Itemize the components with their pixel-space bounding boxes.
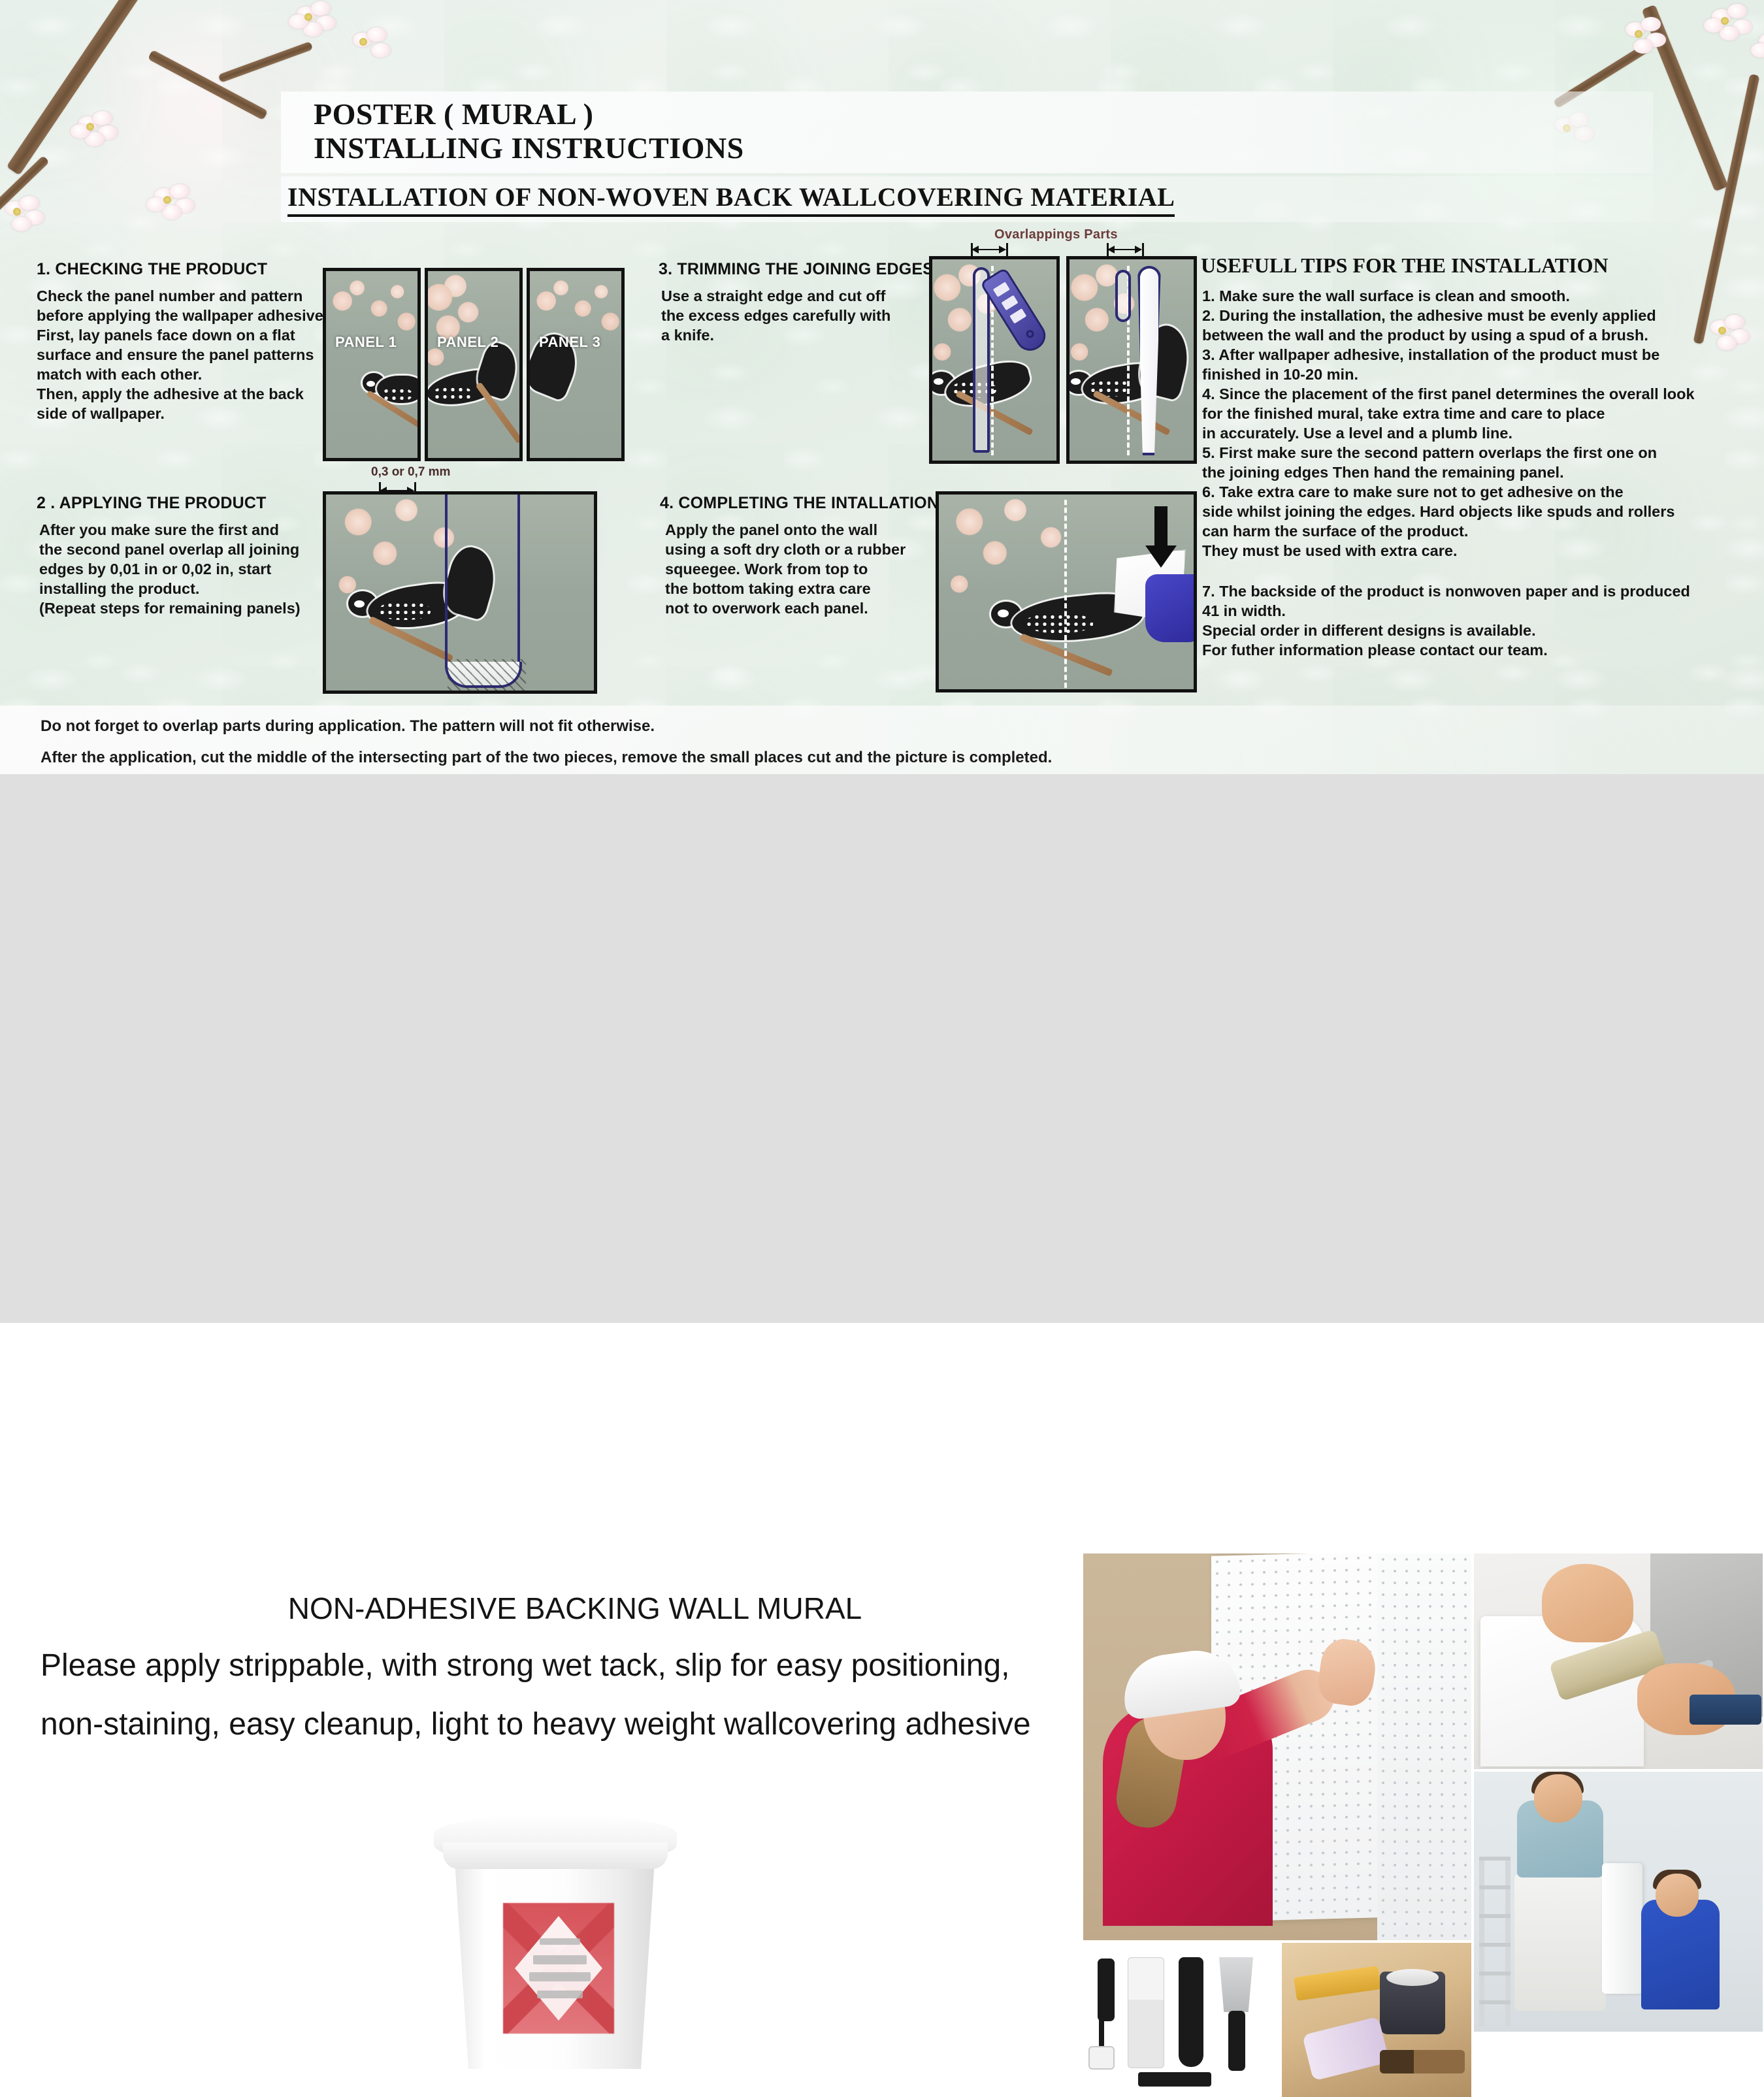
seam-dash-line <box>1064 500 1067 688</box>
tip-1: 1. Make sure the wall surface is clean a… <box>1202 286 1744 306</box>
photo-woman-applying-lining <box>1083 1553 1471 1940</box>
overlap-tick-2 <box>1006 243 1008 256</box>
poster-title-line-1: POSTER ( MURAL ) <box>314 97 593 131</box>
overlap-tick-4 <box>1142 243 1144 256</box>
tip-7: 7. The backside of the product is nonwov… <box>1202 581 1744 660</box>
photo-roller-pasting <box>1474 1553 1763 1769</box>
footer-note-1: Do not forget to overlap parts during ap… <box>41 717 655 736</box>
step-2-heading: 2 . APPLYING THE PRODUCT <box>37 494 267 513</box>
step-4-diagram <box>936 491 1197 692</box>
marketing-panel: NON-ADHESIVE BACKING WALL MURAL Please a… <box>0 774 1764 1323</box>
measure-label: 0,3 or 0,7 mm <box>371 465 450 480</box>
panel-label-2: PANEL 2 <box>437 334 498 351</box>
overlap-outline <box>445 491 520 687</box>
step-3-diagram-edge <box>1066 256 1197 464</box>
overlap-arrow-right-1 <box>999 246 1006 253</box>
footer-note-2: After the application, cut the middle of… <box>41 749 1052 767</box>
tip-2: 2. During the installation, the adhesive… <box>1202 306 1744 345</box>
step-1-body: Check the panel number and pattern befor… <box>37 286 344 423</box>
marketing-title: NON-ADHESIVE BACKING WALL MURAL <box>248 1591 902 1626</box>
step-1-heading: 1. CHECKING THE PRODUCT <box>37 260 267 279</box>
plumb-guide-b <box>1115 270 1131 322</box>
down-arrow-head-icon <box>1145 545 1177 568</box>
step-3-diagram-knife <box>929 256 1060 464</box>
overlap-arrow-right-2 <box>1135 246 1142 253</box>
marketing-body: Please apply strippable, with strong wet… <box>41 1636 1060 1754</box>
tip-3: 3. After wallpaper adhesive, installatio… <box>1202 345 1744 384</box>
tips-heading: USEFULL TIPS FOR THE INSTALLATION <box>1201 253 1609 278</box>
tip-5: 5. First make sure the second pattern ov… <box>1202 443 1744 482</box>
photo-brushes-and-roll <box>1282 1943 1471 2097</box>
step-4-heading: 4. COMPLETING THE INTALLATION <box>660 494 939 513</box>
panel-label-3: PANEL 3 <box>539 334 600 351</box>
overlap-arrow-left-2 <box>1107 246 1115 253</box>
glove-icon <box>1145 574 1197 642</box>
photo-collage <box>1083 1553 1763 2097</box>
adhesive-bucket-image <box>431 1793 679 2074</box>
step-2-diagram <box>323 491 597 694</box>
instruction-poster: POSTER ( MURAL ) INSTALLING INSTRUCTIONS… <box>0 0 1764 777</box>
step-1-panel-1: PANEL 1 <box>323 268 421 461</box>
down-arrow-icon <box>1154 506 1168 547</box>
photo-tool-set <box>1083 1943 1279 2097</box>
step-4-body: Apply the panel onto the wall using a so… <box>665 520 926 618</box>
step-1-panel-3: PANEL 3 <box>527 268 625 461</box>
poster-title-line-2: INSTALLING INSTRUCTIONS <box>314 131 744 165</box>
tip-4: 4. Since the placement of the first pane… <box>1202 384 1744 443</box>
tip-6: 6. Take extra care to make sure not to g… <box>1202 482 1744 561</box>
step-3-heading: 3. TRIMMING THE JOINING EDGES <box>659 260 934 279</box>
step-1-panel-2: PANEL 2 <box>425 268 523 461</box>
poster-subtitle: INSTALLATION OF NON-WOVEN BACK WALLCOVER… <box>287 182 1175 217</box>
overlap-arrow-left-1 <box>972 246 979 253</box>
photo-man-and-boy-hanging <box>1474 1772 1763 2032</box>
panel-label-1: PANEL 1 <box>335 334 397 351</box>
step-3-body: Use a straight edge and cut off the exce… <box>661 286 923 345</box>
step-2-body: After you make sure the first and the se… <box>39 520 346 618</box>
overlap-parts-label: Ovarlappings Parts <box>994 227 1118 242</box>
